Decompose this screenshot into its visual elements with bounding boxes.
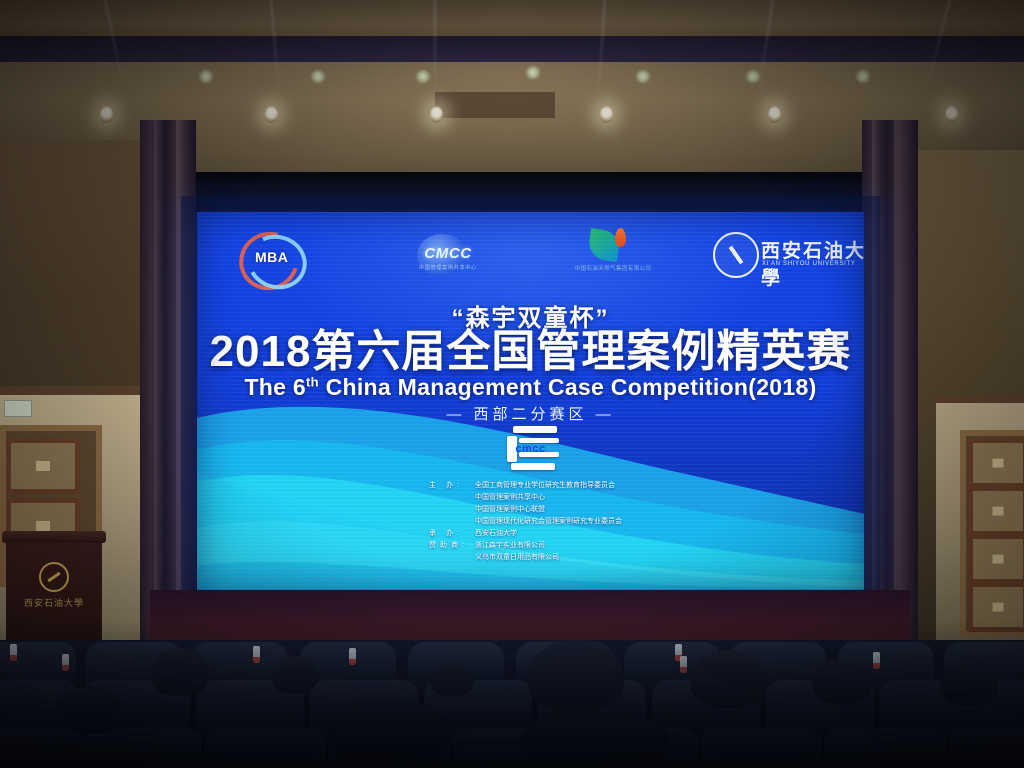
right-wall-trim	[936, 395, 1024, 403]
title-en-post: China Management Case Competition(2018)	[319, 374, 817, 400]
right-curtain	[862, 120, 918, 660]
organizer-value: 西安石油大学	[475, 528, 759, 540]
person-silhouette	[812, 660, 872, 704]
audience-seat	[948, 728, 1024, 768]
cnpc-logo: 中国石油天然气集团有限公司	[553, 228, 673, 286]
wall-panel	[968, 486, 1024, 536]
screen-surface: MBA CMCC 中国管理案例共享中心 中国石油天然气集团有限公司 西安石油大學…	[197, 212, 864, 590]
exit-sign-icon	[4, 400, 32, 417]
water-bottle	[10, 644, 17, 661]
wall-panel	[968, 534, 1024, 584]
led-screen[interactable]: MBA CMCC 中国管理案例共享中心 中国石油天然气集团有限公司 西安石油大學…	[197, 212, 864, 590]
organizer-value: 中国管理案例中心联盟	[475, 504, 759, 516]
organizer-credits: 主 办:全国工商管理专业学位研究生教育指导委员会中国管理案例共享中心中国管理案例…	[429, 480, 759, 564]
audience-seat	[204, 728, 326, 768]
cmcc-logo-sublabel: 中国管理案例共享中心	[419, 264, 477, 271]
xian-shiyou-university-logo: 西安石油大學 XI'AN SHIYOU UNIVERSITY	[709, 230, 864, 282]
left-curtain	[140, 120, 196, 660]
audience-seat	[80, 728, 202, 768]
organizer-value: 浙江森宇实业有限公司	[475, 540, 759, 552]
wall-panel	[968, 438, 1024, 488]
auditorium-photo: MBA CMCC 中国管理案例共享中心 中国石油天然气集团有限公司 西安石油大學…	[0, 0, 1024, 768]
audience-seat	[0, 728, 82, 768]
organizer-row: 主 办:全国工商管理专业学位研究生教育指导委员会中国管理案例共享中心中国管理案例…	[429, 480, 759, 528]
title-en-ordinal: th	[306, 374, 319, 389]
organizer-value: 中国管理案例共享中心	[475, 492, 759, 504]
organizer-label: 赞助商:	[429, 540, 475, 564]
cmcc-logo-label: CMCC	[424, 245, 471, 262]
organizer-values: 西安石油大学	[475, 528, 759, 540]
audience-seat	[700, 728, 822, 768]
audience-seat	[824, 728, 946, 768]
wall-panel	[6, 438, 80, 494]
organizer-values: 浙江森宇实业有限公司义乌市双童日用品有限公司	[475, 540, 759, 564]
organizer-value: 义乌市双童日用品有限公司	[475, 552, 759, 564]
person-silhouette	[150, 648, 210, 696]
person-silhouette	[690, 650, 768, 708]
page-title-en: The 6th China Management Case Competitio…	[197, 374, 864, 401]
curtain-highlight	[894, 120, 903, 660]
podium-label: 西安石油大學	[6, 596, 102, 609]
audience-area	[0, 640, 1024, 768]
curtain-highlight	[176, 120, 185, 660]
person-silhouette	[940, 664, 998, 706]
sponsor-logo-row: MBA CMCC 中国管理案例共享中心 中国石油天然气集团有限公司 西安石油大學…	[197, 224, 864, 286]
organizer-value: 全国工商管理专业学位研究生教育指导委员会	[475, 480, 759, 492]
mba-logo-label: MBA	[255, 249, 288, 265]
cnpc-logo-sublabel: 中国石油天然气集团有限公司	[553, 264, 673, 272]
person-silhouette	[430, 662, 474, 696]
person-silhouette	[60, 686, 122, 734]
university-crest-icon	[39, 562, 69, 592]
person-silhouette	[528, 640, 624, 712]
curtain-highlight	[154, 120, 163, 660]
water-bottle	[680, 656, 687, 673]
person-silhouette	[330, 698, 450, 768]
organizer-row: 赞助商:浙江森宇实业有限公司义乌市双童日用品有限公司	[429, 540, 759, 564]
person-silhouette	[520, 710, 670, 768]
cmcc-mark-icon: cmcc	[503, 426, 559, 470]
left-wall-trim	[0, 386, 152, 395]
water-bottle	[873, 652, 880, 669]
water-bottle	[349, 648, 356, 665]
university-name-en: XI'AN SHIYOU UNIVERSITY	[762, 261, 856, 267]
region-subtitle: — 西部二分赛区 —	[197, 403, 864, 424]
droplet-icon	[615, 228, 626, 247]
cmcc-org-logo: CMCC 中国管理案例共享中心	[393, 232, 503, 284]
water-bottle	[253, 646, 260, 663]
podium-top	[2, 531, 106, 543]
water-bottle	[62, 654, 69, 671]
organizer-row: 承 办:西安石油大学	[429, 528, 759, 540]
wall-panel	[968, 582, 1024, 632]
cmcc-mark-label: cmcc	[503, 443, 559, 455]
organizer-value: 中国管理现代化研究会管理案例研究专业委员会	[475, 516, 759, 528]
organizer-label: 承 办:	[429, 528, 475, 540]
title-en-pre: The 6	[244, 374, 306, 400]
curtain-highlight	[872, 120, 881, 660]
university-crest-icon	[713, 232, 759, 278]
organizer-values: 全国工商管理专业学位研究生教育指导委员会中国管理案例共享中心中国管理案例中心联盟…	[475, 480, 759, 528]
page-title: 2018第六届全国管理案例精英赛	[197, 328, 864, 376]
organizer-label: 主 办:	[429, 480, 475, 528]
mba-logo: MBA	[233, 230, 343, 284]
person-silhouette	[272, 656, 318, 694]
